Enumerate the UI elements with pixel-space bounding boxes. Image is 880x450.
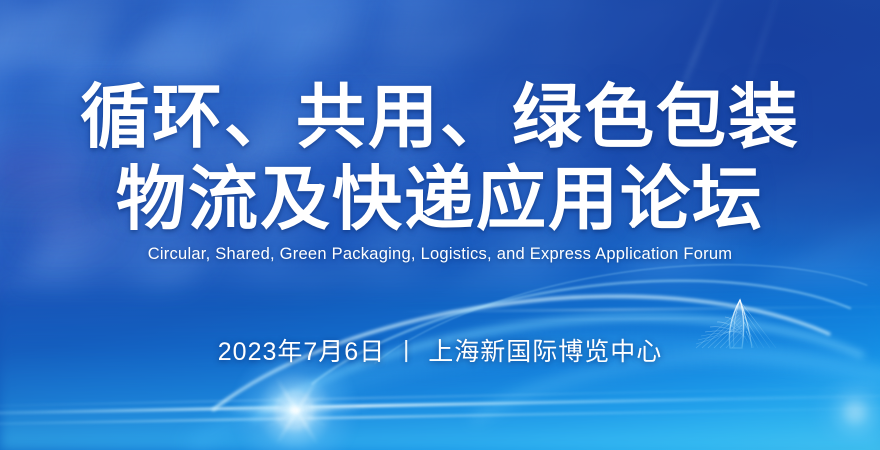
event-date: 2023年7月6日	[218, 332, 385, 368]
poster-title-line-2: 物流及快递应用论坛	[116, 164, 764, 234]
event-poster-banner: 循环、共用、绿色包装 物流及快递应用论坛 Circular, Shared, G…	[0, 0, 880, 450]
meta-separator-icon: 丨	[394, 332, 419, 367]
event-venue: 上海新国际博览中心	[428, 332, 662, 368]
poster-content: 循环、共用、绿色包装 物流及快递应用论坛 Circular, Shared, G…	[0, 0, 880, 450]
event-meta: 2023年7月6日 丨 上海新国际博览中心	[218, 332, 662, 368]
poster-subtitle-english: Circular, Shared, Green Packaging, Logis…	[148, 245, 733, 264]
poster-title-line-1: 循环、共用、绿色包装	[80, 82, 800, 152]
